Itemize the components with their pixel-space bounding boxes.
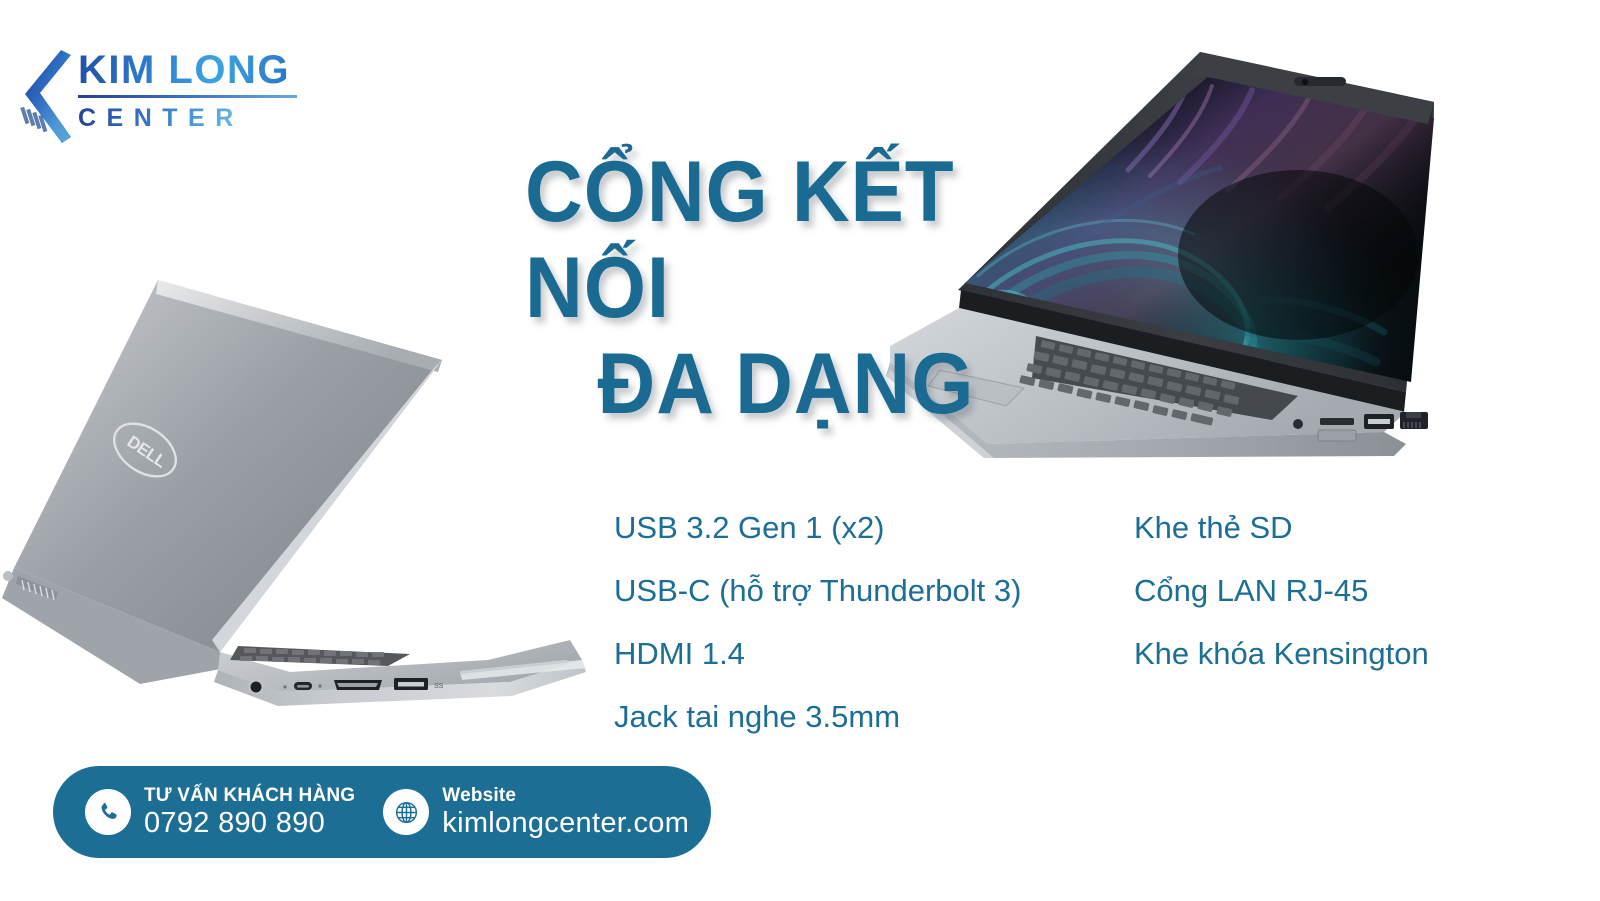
list-item: Cổng LAN RJ-45 (1134, 559, 1544, 622)
contact-bar: TƯ VẤN KHÁCH HÀNG 0792 890 890 (53, 766, 711, 858)
usb-a-port (394, 678, 428, 690)
list-item: Khe thẻ SD (1134, 496, 1544, 559)
phone-handset-icon (85, 789, 131, 835)
contact-website-url: kimlongcenter.com (442, 807, 689, 840)
usb-a-port (1364, 414, 1394, 429)
feature-column-left: USB 3.2 Gen 1 (x2) USB-C (hỗ trợ Thunder… (614, 496, 1114, 748)
contact-phone-block[interactable]: TƯ VẤN KHÁCH HÀNG 0792 890 890 (85, 785, 355, 840)
list-item: Jack tai nghe 3.5mm (614, 685, 1114, 748)
audio-jack-port (249, 680, 264, 695)
list-item: USB-C (hỗ trợ Thunderbolt 3) (614, 559, 1114, 622)
list-item: USB 3.2 Gen 1 (x2) (614, 496, 1114, 559)
chevron-k-mark-icon (14, 46, 76, 146)
page-title: CỔNG KẾT NỐI ĐA DẠNG (512, 144, 1089, 432)
brand-logo[interactable]: KIM LONG CENTER (14, 42, 304, 150)
contact-phone-text: TƯ VẤN KHÁCH HÀNG 0792 890 890 (144, 785, 355, 840)
feature-column-right: Khe thẻ SD Cổng LAN RJ-45 Khe khóa Kensi… (1134, 496, 1544, 685)
hdmi-port (334, 680, 382, 690)
contact-phone-number: 0792 890 890 (144, 807, 355, 840)
logo-text-block: KIM LONG CENTER (78, 48, 300, 133)
logo-line-kim-long: KIM LONG (78, 48, 300, 92)
sd-card-slot (1320, 418, 1354, 425)
audio-jack-port (1293, 419, 1303, 429)
page-title-line-2: ĐA DẠNG (512, 336, 1089, 432)
contact-website-label: Website (442, 785, 689, 807)
list-item: Khe khóa Kensington (1134, 622, 1544, 685)
page-title-line-1: CỔNG KẾT NỐI (512, 144, 1089, 336)
logo-divider (78, 95, 297, 98)
dell-laptop-rear-view: DELL (0, 268, 590, 688)
list-item: HDMI 1.4 (614, 622, 1114, 685)
usb-c-port (294, 682, 312, 690)
rj45-lan-port (1400, 412, 1428, 429)
logo-line-center: CENTER (78, 104, 300, 133)
webcam-icon (1294, 77, 1346, 86)
contact-website-text: Website kimlongcenter.com (442, 785, 689, 840)
globe-icon (383, 789, 429, 835)
svg-text:SS: SS (434, 683, 444, 690)
poster-canvas: KIM LONG CENTER (0, 0, 1600, 901)
contact-website-block[interactable]: Website kimlongcenter.com (383, 785, 689, 840)
contact-phone-label: TƯ VẤN KHÁCH HÀNG (144, 785, 355, 807)
